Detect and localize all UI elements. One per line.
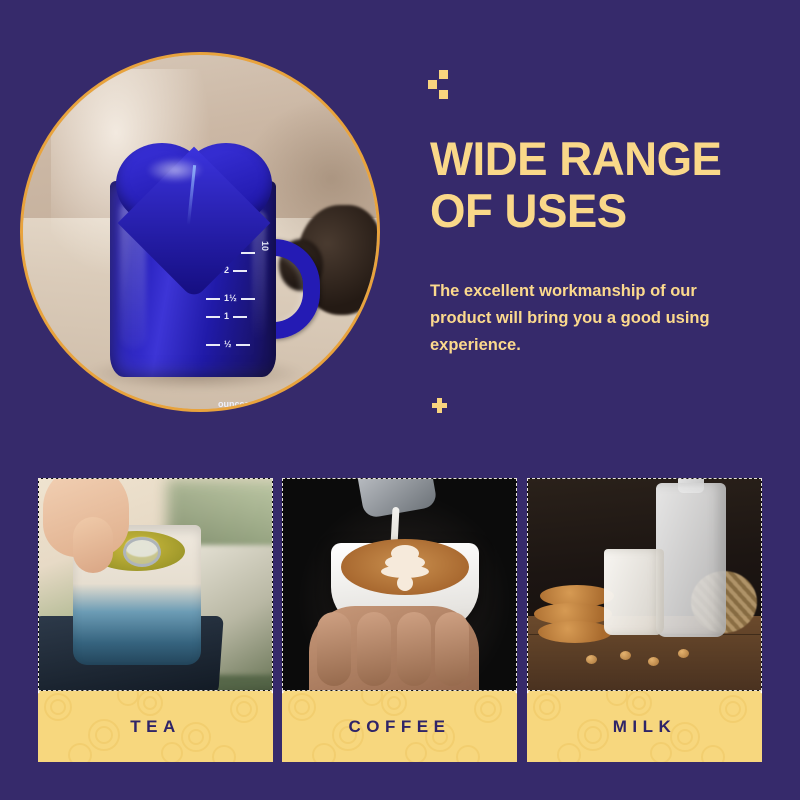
use-case-cards: TEA [0, 478, 800, 768]
card-tea[interactable]: TEA [38, 478, 273, 762]
card-milk[interactable]: MILK [527, 478, 762, 762]
card-coffee[interactable]: COFFEE [282, 478, 517, 762]
cup-heart-rim [116, 143, 272, 243]
plus-icon [432, 398, 447, 413]
card-tea-label-bar: TEA [38, 691, 273, 762]
card-tea-photo [38, 478, 273, 691]
hero-section: 2½ 2 1½ 1 ½ oun [0, 0, 800, 465]
notch-left-icon [38, 691, 40, 702]
mark-1: 1 [202, 311, 251, 321]
notch-right-icon [271, 691, 273, 702]
notch-right-icon [515, 691, 517, 702]
mark-label: 1½ [224, 293, 237, 303]
measuring-cup: 2½ 2 1½ 1 ½ oun [98, 143, 288, 379]
notch-left-icon [527, 691, 529, 702]
notch-right-icon [760, 691, 762, 702]
mark-label: ½ [224, 339, 232, 349]
card-coffee-photo [282, 478, 517, 691]
mark-1-5: 1½ [202, 293, 259, 303]
pixel-squares-icon [428, 70, 452, 94]
notch-left-icon [282, 691, 284, 702]
card-tea-label: TEA [130, 717, 181, 737]
mark-label: 1 [224, 311, 229, 321]
card-milk-label-bar: MILK [527, 691, 762, 762]
unit-label: ounces [218, 399, 250, 409]
page-subtitle: The excellent workmanship of our product… [430, 278, 760, 359]
card-coffee-label: COFFEE [349, 717, 451, 737]
card-milk-photo [527, 478, 762, 691]
product-photo: 2½ 2 1½ 1 ½ oun [23, 55, 377, 409]
product-photo-circle: 2½ 2 1½ 1 ½ oun [20, 52, 380, 412]
mark-half: ½ [202, 339, 254, 349]
card-coffee-label-bar: COFFEE [282, 691, 517, 762]
card-milk-label: MILK [613, 717, 677, 737]
page-title: WIDE RANGE OF USES [430, 133, 770, 237]
